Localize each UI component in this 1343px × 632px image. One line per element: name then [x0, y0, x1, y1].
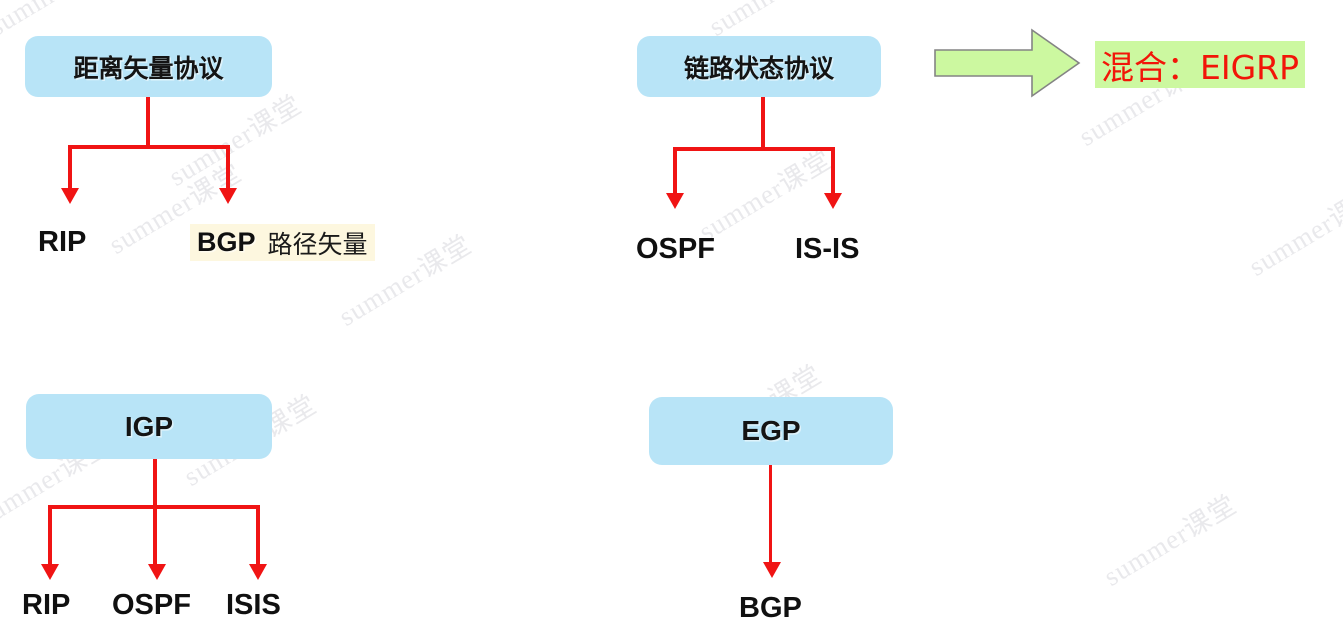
leaf-label-ospf[interactable]: OSPF: [636, 233, 715, 266]
connector-branch-rip: [48, 505, 52, 566]
watermark-text: summer课堂: [690, 138, 838, 248]
annotation-hybrid-label: 混合：EIGRP: [1101, 41, 1299, 89]
connector-branch-rip: [68, 145, 72, 190]
node-distance-vector[interactable]: 距离矢量协议: [25, 36, 272, 97]
annotation-keyword: BGP: [197, 227, 256, 258]
watermark-text: summer课堂: [1240, 173, 1343, 283]
connector-branch-bgp: [226, 145, 230, 190]
connector-stem-link-state: [761, 97, 765, 151]
connector-branch-isis: [256, 505, 260, 566]
connector-stem-egp: [769, 465, 772, 567]
arrowhead-icon: [249, 564, 267, 580]
node-igp[interactable]: IGP: [26, 394, 272, 459]
leaf-label-rip[interactable]: RIP: [38, 226, 86, 259]
connector-bar-igp: [48, 505, 260, 509]
connector-branch-isis: [831, 147, 835, 195]
node-label: 距离矢量协议: [73, 49, 223, 85]
connector-branch-ospf: [673, 147, 677, 195]
arrowhead-icon: [61, 188, 79, 204]
connector-stem-igp: [153, 459, 157, 571]
arrowhead-icon: [148, 564, 166, 580]
annotation-bgp-path-vector[interactable]: BGP 路径矢量: [190, 224, 375, 261]
arrowhead-icon: [666, 193, 684, 209]
leaf-label-ospf[interactable]: OSPF: [112, 589, 191, 622]
watermark-text: summer课堂: [1095, 483, 1243, 593]
annotation-note: 路径矢量: [268, 225, 368, 261]
annotation-hybrid-eigrp[interactable]: 混合：EIGRP: [1095, 41, 1305, 88]
connector-bar-link-state: [673, 147, 835, 151]
arrowhead-icon: [41, 564, 59, 580]
leaf-label-isis[interactable]: ISIS: [226, 589, 281, 622]
node-label: IGP: [125, 411, 173, 443]
node-label: 链路状态协议: [684, 49, 834, 85]
node-link-state[interactable]: 链路状态协议: [637, 36, 881, 97]
connector-bar-distance-vector: [68, 145, 230, 149]
diagram-canvas: summer课堂 summer课堂 summer课堂 summer课堂 summ…: [0, 0, 1343, 632]
arrowhead-icon: [824, 193, 842, 209]
leaf-label-is-is[interactable]: IS-IS: [795, 233, 859, 266]
connector-stem-distance-vector: [146, 97, 150, 149]
node-label: EGP: [741, 415, 800, 447]
node-egp[interactable]: EGP: [649, 397, 893, 465]
leaf-label-rip[interactable]: RIP: [22, 589, 70, 622]
leaf-label-bgp[interactable]: BGP: [739, 592, 802, 625]
right-block-arrow-icon: [933, 28, 1081, 98]
arrowhead-icon: [219, 188, 237, 204]
arrowhead-icon: [763, 562, 781, 578]
watermark-text: summer课堂: [160, 83, 308, 193]
